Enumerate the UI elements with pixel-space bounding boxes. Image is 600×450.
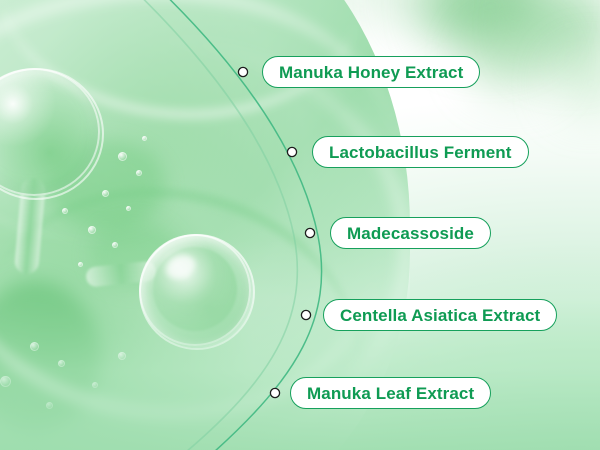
callout-label-text: Lactobacillus Ferment	[329, 144, 512, 161]
callout-label-text: Madecassoside	[347, 225, 474, 242]
callout-pill-manuka-leaf-extract[interactable]: Manuka Leaf Extract	[290, 377, 491, 409]
callout-label-text: Centella Asiatica Extract	[340, 307, 540, 324]
callout-marker-manuka-leaf-extract[interactable]	[270, 388, 279, 397]
callout-marker-manuka-honey-extract[interactable]	[238, 67, 247, 76]
callout-marker-centella-asiatica-extract[interactable]	[301, 310, 310, 319]
callout-marker-madecassoside[interactable]	[305, 228, 314, 237]
callout-label-text: Manuka Leaf Extract	[307, 385, 474, 402]
callout-label-text: Manuka Honey Extract	[279, 64, 463, 81]
callout-pill-centella-asiatica-extract[interactable]: Centella Asiatica Extract	[323, 299, 557, 331]
callout-pill-manuka-honey-extract[interactable]: Manuka Honey Extract	[262, 56, 480, 88]
infographic-canvas: Manuka Honey ExtractLactobacillus Fermen…	[0, 0, 600, 450]
callout-marker-lactobacillus-ferment[interactable]	[287, 147, 296, 156]
callout-pill-lactobacillus-ferment[interactable]: Lactobacillus Ferment	[312, 136, 529, 168]
callout-pill-madecassoside[interactable]: Madecassoside	[330, 217, 491, 249]
